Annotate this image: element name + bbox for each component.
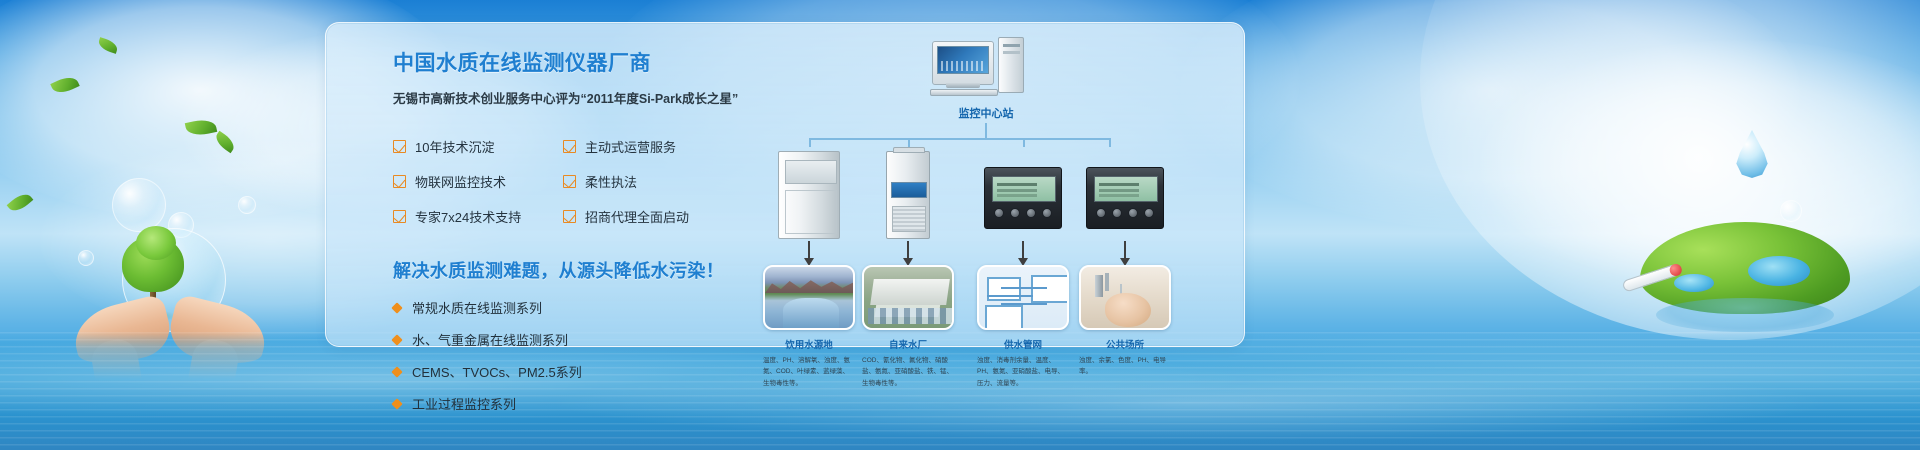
product-line-item[interactable]: 水、气重金属在线监测系列 <box>393 330 753 349</box>
analyzer-grill <box>892 206 926 232</box>
award-subtitle: 无锡市高新技术创业服务中心评为“2011年度Si-Park成长之星” <box>393 88 753 107</box>
application-parameters: 浊度、消毒剂余量、温度、PH、氨氮、亚硝酸盐、电导、压力、流量等。 <box>977 355 1069 389</box>
tree-crown-highlight-icon <box>136 226 176 260</box>
product-line-label: 常规水质在线监测系列 <box>412 298 542 317</box>
controller-icon <box>1086 167 1164 229</box>
feature-item[interactable]: 10年技术沉淀 <box>393 137 553 156</box>
connector-line <box>985 123 987 139</box>
connector-line <box>809 138 811 147</box>
river-landscape-photo <box>763 265 855 330</box>
analyzer-top-cap <box>893 147 925 153</box>
connector-line <box>908 138 910 147</box>
leaf-icon <box>97 37 119 54</box>
water-droplet-icon <box>1735 130 1769 178</box>
leaf-icon <box>213 131 238 153</box>
lake-shape <box>1748 256 1810 286</box>
pc-tower-icon <box>998 37 1024 93</box>
checkbox-icon <box>393 175 406 188</box>
keyboard-icon <box>930 89 998 96</box>
down-arrow-icon <box>1124 241 1126 259</box>
bubble-decoration <box>1780 200 1802 222</box>
system-architecture-diagram: 监控中心站 <box>756 37 1226 347</box>
diamond-bullet-icon <box>391 334 402 345</box>
connector-line <box>1109 138 1111 147</box>
water-treatment-plant-photo <box>862 265 954 330</box>
product-line-item[interactable]: 工业过程监控系列 <box>393 394 753 413</box>
bubble-decoration <box>238 196 256 214</box>
device-row <box>756 147 1226 239</box>
feature-item[interactable]: 专家7x24技术支持 <box>393 207 553 226</box>
feature-label: 专家7x24技术支持 <box>415 207 521 226</box>
water-band <box>0 332 1920 450</box>
checkbox-icon <box>393 210 406 223</box>
desktop-computer-icon <box>932 37 1042 99</box>
diamond-bullet-icon <box>391 366 402 377</box>
checkbox-icon <box>563 140 576 153</box>
application-parameters: COD、氰化物、氟化物、硝酸盐、氨氮、亚硝酸盐、铁、锰、生物毒性等。 <box>862 355 954 389</box>
banner-content-card: 中国水质在线监测仪器厂商 无锡市高新技术创业服务中心评为“2011年度Si-Pa… <box>325 22 1245 347</box>
application-parameters: 温度、PH、溶解氧、浊度、氨氮、COD、叶绿素、蓝绿藻、生物毒性等。 <box>763 355 855 389</box>
analyzer-display <box>891 182 927 198</box>
diamond-bullet-icon <box>391 302 402 313</box>
application-card[interactable]: 自来水厂 COD、氰化物、氟化物、硝酸盐、氨氮、亚硝酸盐、铁、锰、生物毒性等。 <box>862 265 954 389</box>
globe-base-glow <box>1656 298 1834 332</box>
pipe-network-diagram-photo <box>977 265 1069 330</box>
hands-holding-tree-illustration <box>78 222 268 397</box>
grass-globe-illustration <box>1640 222 1850 334</box>
connector-line <box>1023 138 1025 147</box>
product-line-item[interactable]: 常规水质在线监测系列 <box>393 298 753 317</box>
checkbox-icon <box>393 140 406 153</box>
product-line-list: 常规水质在线监测系列 水、气重金属在线监测系列 CEMS、TVOCs、PM2.5… <box>393 298 753 413</box>
controller-lcd <box>992 176 1056 202</box>
feature-item[interactable]: 招商代理全面启动 <box>563 207 723 226</box>
cloud-decoration <box>1180 0 1800 230</box>
application-title: 公共场所 <box>1079 337 1171 351</box>
diamond-bullet-icon <box>391 398 402 409</box>
controller-lcd <box>1094 176 1158 202</box>
leaf-icon <box>185 117 217 138</box>
product-line-item[interactable]: CEMS、TVOCs、PM2.5系列 <box>393 362 753 381</box>
monitor-base <box>946 83 980 88</box>
checkbox-icon <box>563 175 576 188</box>
feature-item[interactable]: 主动式运营服务 <box>563 137 723 156</box>
application-card[interactable]: 饮用水源地 温度、PH、溶解氧、浊度、氨氮、COD、叶绿素、蓝绿藻、生物毒性等。 <box>763 265 855 389</box>
application-card[interactable]: 供水管网 浊度、消毒剂余量、温度、PH、氨氮、亚硝酸盐、电导、压力、流量等。 <box>977 265 1069 389</box>
connector-line <box>809 138 1109 140</box>
feature-label: 10年技术沉淀 <box>415 137 494 156</box>
product-line-label: 水、气重金属在线监测系列 <box>412 330 568 349</box>
feature-item[interactable]: 物联网监控技术 <box>393 172 553 191</box>
down-arrow-icon <box>808 241 810 259</box>
feature-label: 招商代理全面启动 <box>585 207 689 226</box>
monitor-icon <box>932 41 994 85</box>
checkbox-icon <box>563 210 576 223</box>
section-headline: 解决水质监测难题，从源头降低水污染！ <box>393 257 753 283</box>
down-arrow-icon <box>1022 241 1024 259</box>
product-line-label: 工业过程监控系列 <box>412 394 516 413</box>
water-shimmer <box>0 332 1920 450</box>
product-line-label: CEMS、TVOCs、PM2.5系列 <box>412 362 582 381</box>
rack-analyzer-icon <box>886 151 930 239</box>
controller-buttons <box>994 208 1052 218</box>
application-parameters: 浊度、余氯、色度、PH、电导率。 <box>1079 355 1171 378</box>
cabinet-icon <box>778 151 840 239</box>
leaf-icon <box>50 73 79 97</box>
feature-item[interactable]: 柔性执法 <box>563 172 723 191</box>
monitor-screen <box>937 46 989 74</box>
application-card[interactable]: 公共场所 浊度、余氯、色度、PH、电导率。 <box>1079 265 1171 378</box>
feature-label: 主动式运营服务 <box>585 137 676 156</box>
tap-water-hands-photo <box>1079 265 1171 330</box>
lake-shape-small <box>1674 274 1714 292</box>
left-text-column: 中国水质在线监测仪器厂商 无锡市高新技术创业服务中心评为“2011年度Si-Pa… <box>393 47 753 426</box>
center-station-label: 监控中心站 <box>906 105 1066 121</box>
page-title: 中国水质在线监测仪器厂商 <box>393 47 753 77</box>
feature-list: 10年技术沉淀 主动式运营服务 物联网监控技术 柔性执法 专家7x24技术支持 … <box>393 137 753 226</box>
down-arrow-icon <box>907 241 909 259</box>
application-title: 饮用水源地 <box>763 337 855 351</box>
controller-buttons <box>1096 208 1154 218</box>
application-title: 自来水厂 <box>862 337 954 351</box>
application-title: 供水管网 <box>977 337 1069 351</box>
feature-label: 物联网监控技术 <box>415 172 506 191</box>
feature-label: 柔性执法 <box>585 172 637 191</box>
controller-icon <box>984 167 1062 229</box>
leaf-icon <box>7 190 34 215</box>
